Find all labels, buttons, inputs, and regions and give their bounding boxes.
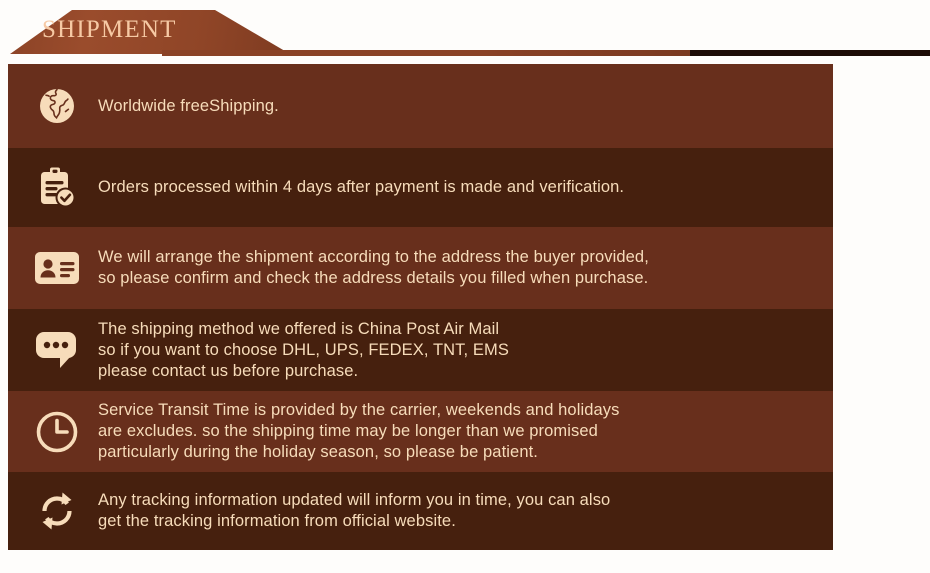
clipboard-check-icon (26, 166, 88, 210)
info-row-text: The shipping method we offered is China … (88, 319, 833, 382)
info-row: Service Transit Time is provided by the … (8, 391, 833, 472)
globe-icon (26, 86, 88, 126)
info-row: Any tracking information updated will in… (8, 472, 833, 550)
refresh-icon (26, 489, 88, 533)
clock-icon (26, 410, 88, 454)
header-banner: SHIPMENT (0, 0, 930, 62)
info-row-text: We will arrange the shipment according t… (88, 247, 833, 289)
banner-strip-brown (162, 50, 690, 56)
info-row: We will arrange the shipment according t… (8, 227, 833, 309)
banner-strip-dark (690, 50, 930, 56)
shipment-info-panel: Worldwide freeShipping. Orders processed… (8, 64, 833, 550)
info-row-text: Worldwide freeShipping. (88, 96, 833, 117)
info-row: Orders processed within 4 days after pay… (8, 148, 833, 227)
info-row-text: Any tracking information updated will in… (88, 490, 833, 532)
info-row: The shipping method we offered is China … (8, 309, 833, 391)
speech-bubble-icon (26, 330, 88, 370)
info-row-text: Service Transit Time is provided by the … (88, 400, 833, 463)
info-row-text: Orders processed within 4 days after pay… (88, 177, 833, 198)
id-card-icon (26, 251, 88, 285)
page-title: SHIPMENT (42, 16, 177, 44)
info-row: Worldwide freeShipping. (8, 64, 833, 148)
